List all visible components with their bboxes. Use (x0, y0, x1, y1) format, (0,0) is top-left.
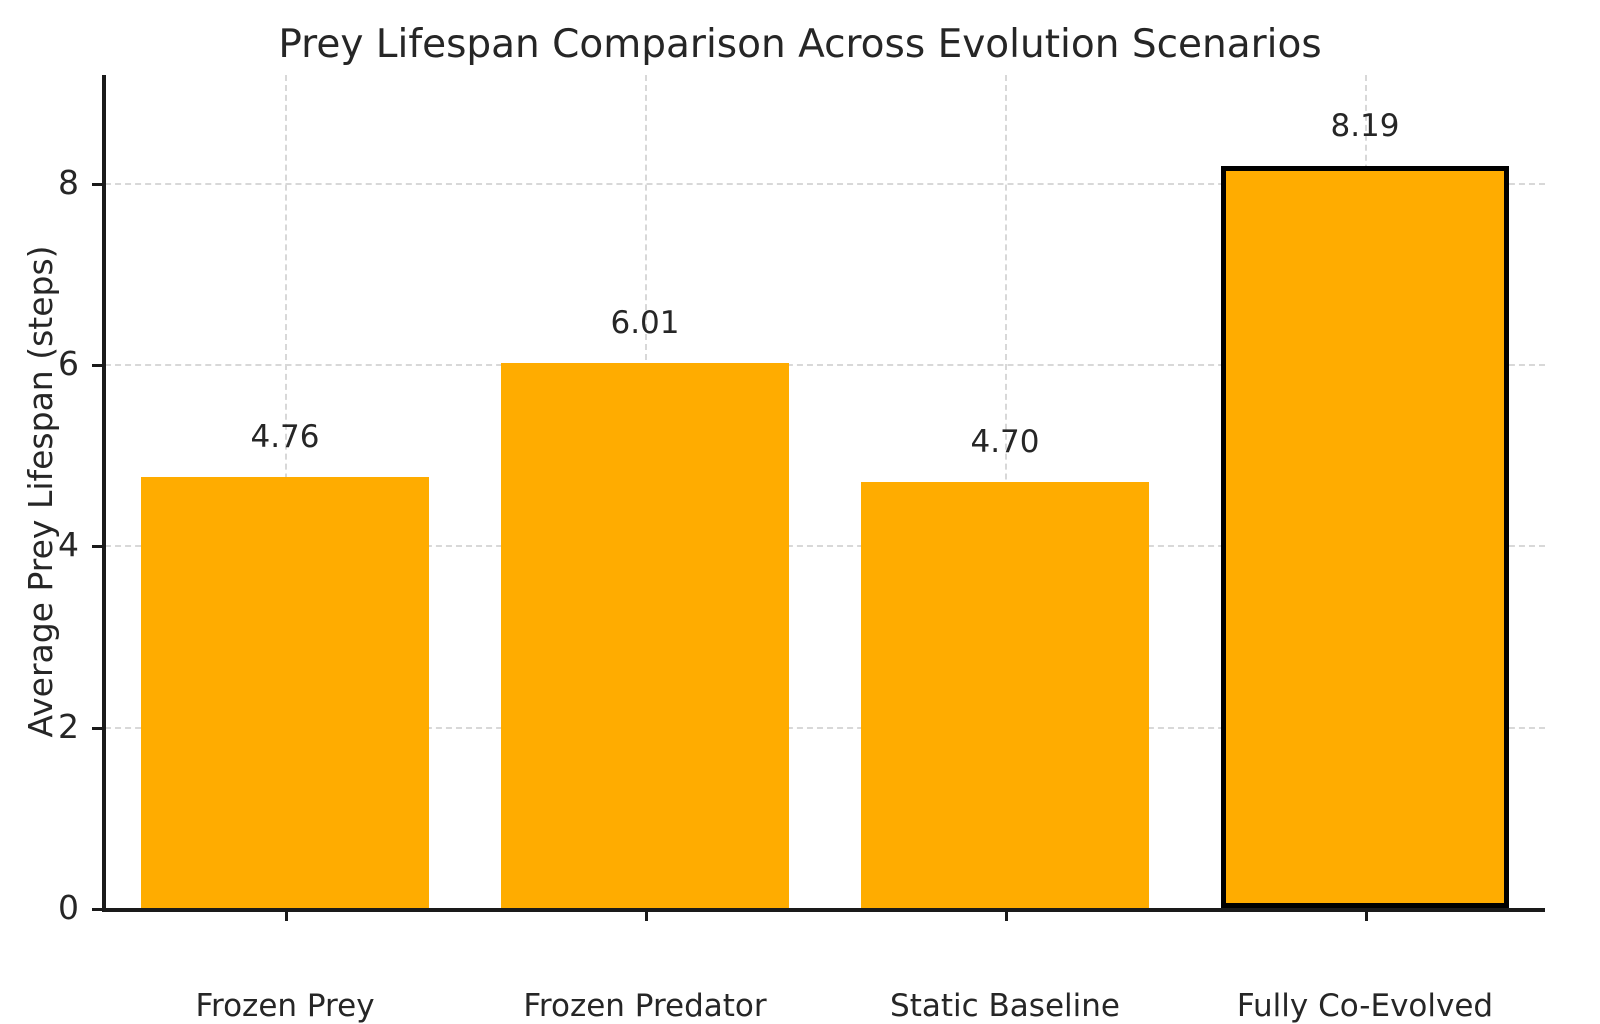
bar-value-label: 4.70 (970, 427, 1039, 458)
y-tick-label: 2 (58, 710, 79, 743)
y-tick-mark (92, 908, 105, 911)
y-tick-mark (92, 545, 105, 548)
bar-static-baseline[interactable] (861, 482, 1149, 908)
x-tick-mark (1365, 908, 1368, 921)
bar-frozen-prey[interactable] (141, 477, 429, 908)
chart-title: Prey Lifespan Comparison Across Evolutio… (0, 22, 1600, 67)
x-tick-mark (1005, 908, 1008, 921)
bar-fully-co-evolved[interactable] (1221, 166, 1509, 908)
x-axis-spine (102, 908, 1545, 912)
bar-value-label: 8.19 (1330, 111, 1399, 142)
y-axis-spine (102, 75, 106, 911)
plot-area: Frozen PreyFrozen PredatorStatic Baselin… (105, 75, 1545, 908)
y-tick-mark (92, 364, 105, 367)
x-tick-label: Static Baseline (890, 991, 1120, 1022)
x-tick-mark (285, 908, 288, 921)
bar-value-label: 6.01 (610, 308, 679, 339)
y-tick-label: 8 (58, 166, 79, 199)
bar-frozen-predator[interactable] (501, 363, 789, 908)
y-tick-label: 4 (58, 528, 79, 561)
bar-value-label: 4.76 (250, 422, 319, 453)
bar-chart-figure: Prey Lifespan Comparison Across Evolutio… (0, 0, 1600, 1000)
y-tick-mark (92, 183, 105, 186)
x-tick-label: Frozen Prey (195, 991, 374, 1022)
y-tick-label: 0 (58, 891, 79, 924)
plot-inner (105, 75, 1545, 908)
x-tick-label: Fully Co-Evolved (1237, 991, 1493, 1022)
y-tick-label: 6 (58, 347, 79, 380)
y-tick-mark (92, 727, 105, 730)
x-tick-label: Frozen Predator (523, 991, 766, 1022)
x-tick-mark (645, 908, 648, 921)
